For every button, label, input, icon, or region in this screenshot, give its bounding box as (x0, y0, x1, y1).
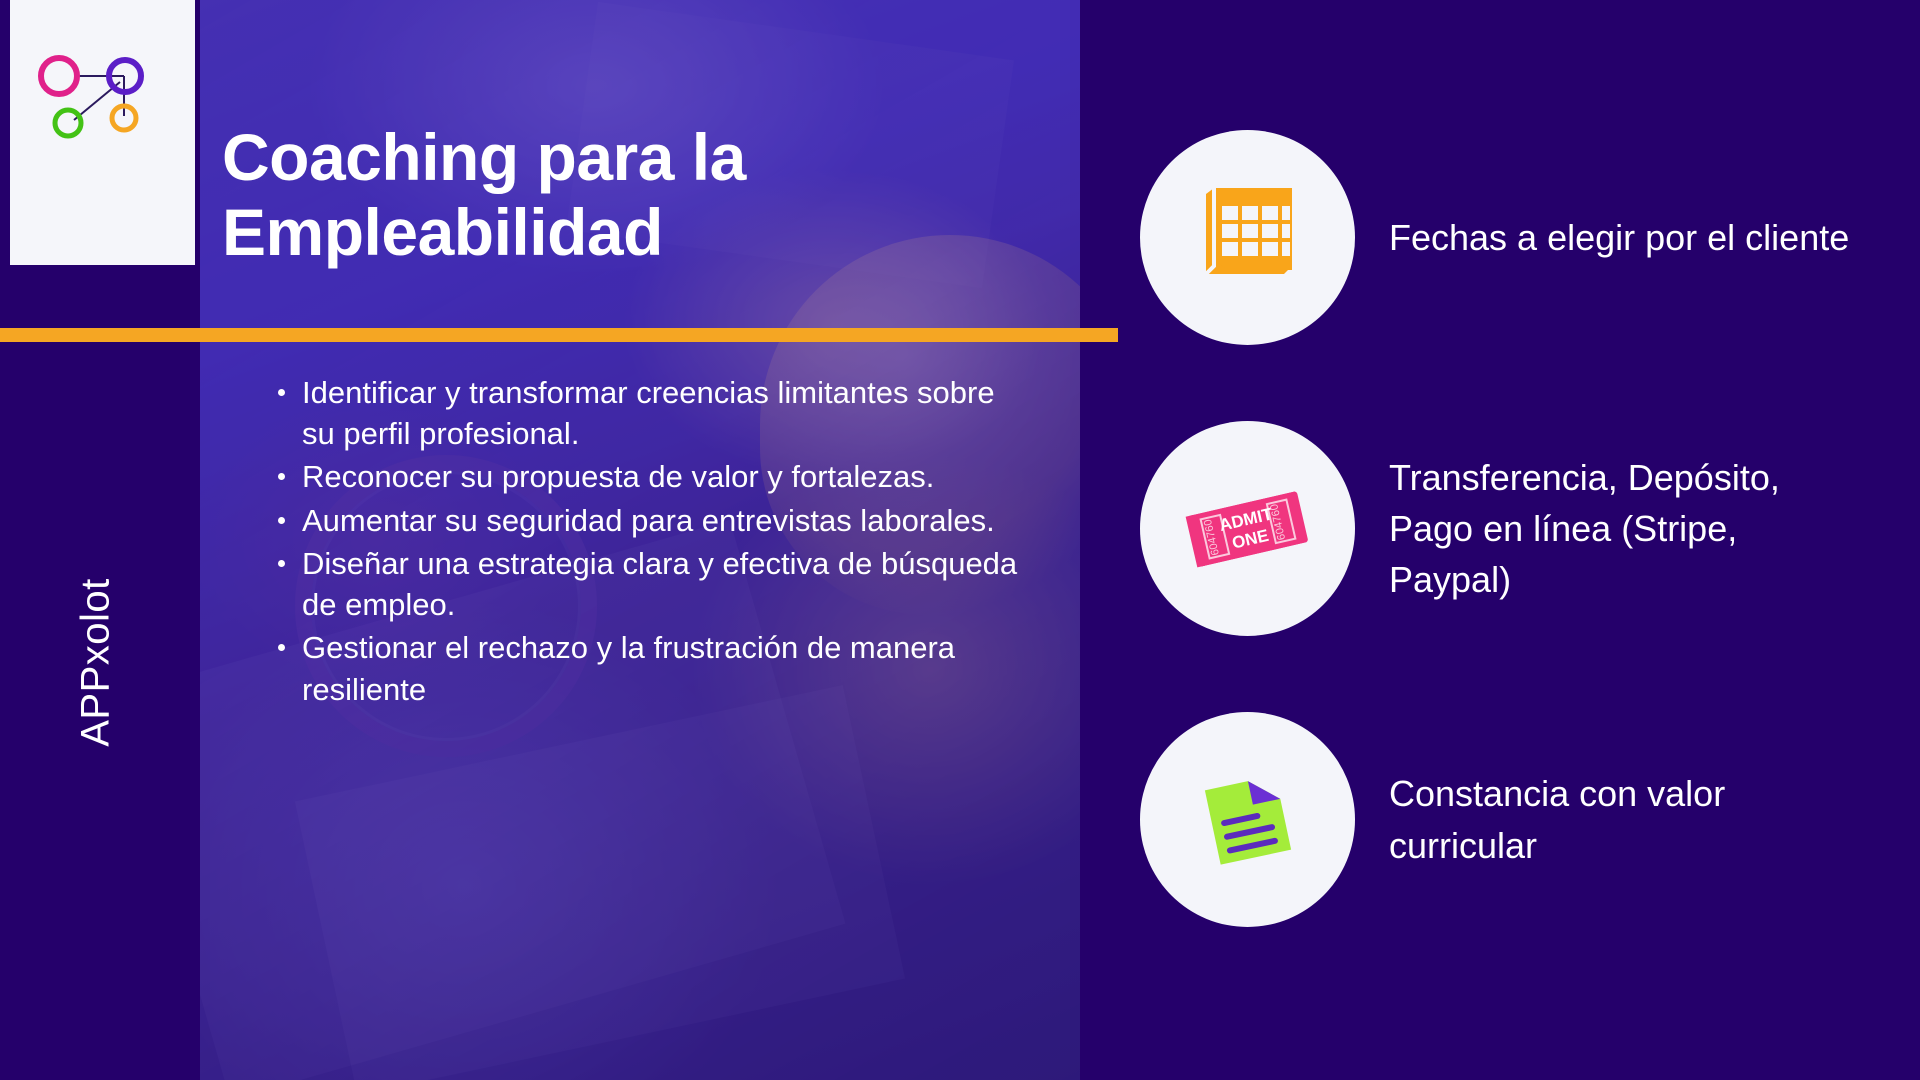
logo-card (10, 0, 195, 265)
accent-divider (0, 328, 1118, 342)
feature-icon-circle: ADMIT ONE 604760 604760 (1140, 421, 1355, 636)
list-item: Reconocer su propuesta de valor y fortal… (272, 456, 1032, 497)
feature-label: Constancia con valor curricular (1389, 768, 1859, 870)
network-nodes-logo (32, 40, 172, 160)
list-item: Diseñar una estrategia clara y efectiva … (272, 543, 1032, 625)
benefits-list: Identificar y transformar creencias limi… (272, 372, 1032, 712)
list-item: Aumentar su seguridad para entrevistas l… (272, 500, 1032, 541)
brand-name: APPxolot (74, 553, 119, 773)
ticket-icon: ADMIT ONE 604760 604760 (1178, 469, 1318, 589)
feature-icon-circle (1140, 130, 1355, 345)
list-item: Gestionar el rechazo y la frustración de… (272, 627, 1032, 709)
feature-certificate: Constancia con valor curricular (1140, 712, 1900, 927)
page-title: Coaching para la Empleabilidad (222, 120, 922, 270)
feature-dates: Fechas a elegir por el cliente (1140, 130, 1900, 345)
feature-label: Fechas a elegir por el cliente (1389, 212, 1849, 263)
calendar-icon (1188, 178, 1308, 298)
feature-icon-circle (1140, 712, 1355, 927)
list-item: Identificar y transformar creencias limi… (272, 372, 1032, 454)
feature-label: Transferencia, Depósito, Pago en línea (… (1389, 452, 1859, 605)
feature-payment: ADMIT ONE 604760 604760 Transferencia, D… (1140, 421, 1900, 636)
document-icon (1188, 760, 1308, 880)
node-green-icon (55, 110, 81, 136)
node-pink-icon (41, 58, 77, 94)
features-column: Fechas a elegir por el cliente ADMIT ONE… (1140, 130, 1900, 1003)
slide-root: APPxolot Coaching para la Empleabilidad … (0, 0, 1920, 1080)
